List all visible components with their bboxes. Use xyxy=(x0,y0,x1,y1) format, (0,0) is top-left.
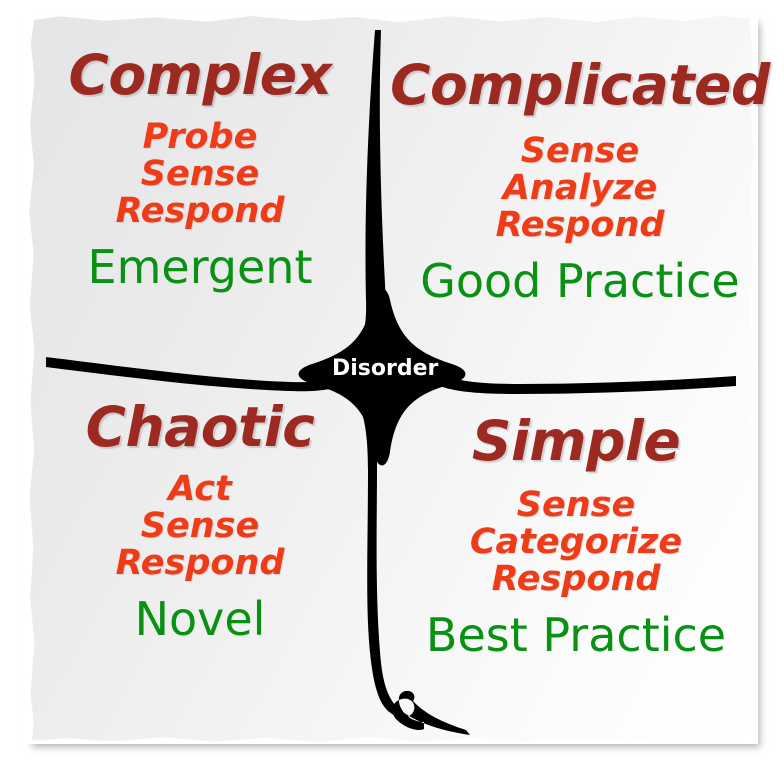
quadrant-title-complicated: Complicated xyxy=(390,58,770,113)
action-word: Sense xyxy=(30,508,370,545)
quadrant-title-chaotic: Chaotic xyxy=(30,400,370,455)
quadrant-practice-complicated: Good Practice xyxy=(390,258,770,304)
quadrant-complicated[interactable]: Complicated Sense Analyze Respond Good P… xyxy=(390,58,770,304)
action-word: Respond xyxy=(30,545,370,582)
quadrant-actions-chaotic: Act Sense Respond xyxy=(30,471,370,582)
action-word: Respond xyxy=(396,561,756,598)
action-word: Categorize xyxy=(396,524,756,561)
action-word: Analyze xyxy=(390,170,770,207)
quadrant-practice-simple: Best Practice xyxy=(396,612,756,658)
quadrant-chaotic[interactable]: Chaotic Act Sense Respond Novel xyxy=(30,400,370,642)
quadrant-practice-complex: Emergent xyxy=(30,244,370,290)
quadrant-actions-complicated: Sense Analyze Respond xyxy=(390,133,770,244)
quadrant-practice-chaotic: Novel xyxy=(30,596,370,642)
action-word: Sense xyxy=(390,133,770,170)
quadrant-actions-complex: Probe Sense Respond xyxy=(30,119,370,230)
action-word: Respond xyxy=(30,193,370,230)
quadrant-title-complex: Complex xyxy=(30,48,370,103)
action-word: Act xyxy=(30,471,370,508)
quadrant-title-simple: Simple xyxy=(396,414,756,469)
quadrant-simple[interactable]: Simple Sense Categorize Respond Best Pra… xyxy=(396,414,756,658)
torn-edge-bottom xyxy=(24,735,758,744)
action-word: Sense xyxy=(30,156,370,193)
action-word: Probe xyxy=(30,119,370,156)
quadrant-complex[interactable]: Complex Probe Sense Respond Emergent xyxy=(30,48,370,290)
torn-edge-top xyxy=(24,14,758,24)
cynefin-diagram: Disorder Complex Probe Sense Respond Eme… xyxy=(0,0,784,774)
action-word: Sense xyxy=(396,487,756,524)
disorder-label: Disorder xyxy=(332,356,438,381)
quadrant-actions-simple: Sense Categorize Respond xyxy=(396,487,756,598)
action-word: Respond xyxy=(390,207,770,244)
